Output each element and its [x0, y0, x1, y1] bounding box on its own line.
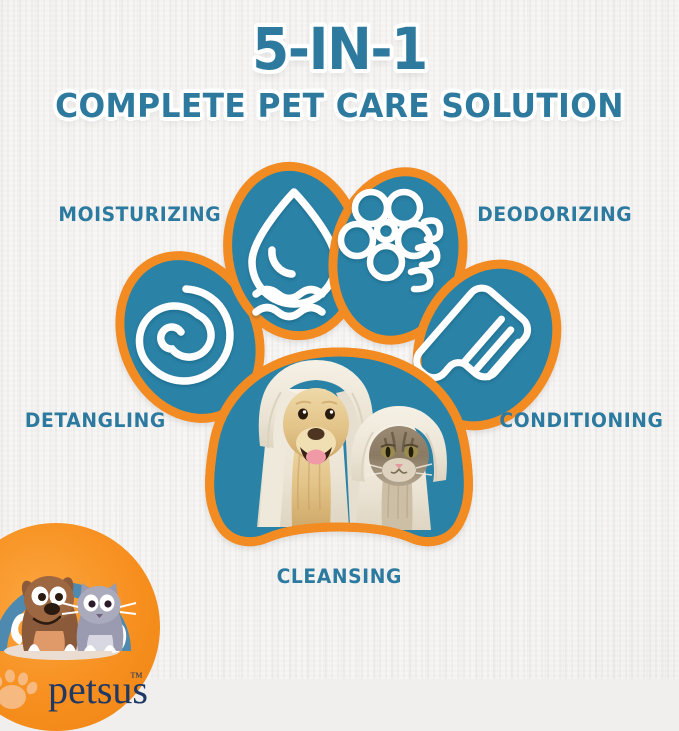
feature-label-deodorizing: DEODORIZING	[477, 203, 632, 226]
page-subtitle: COMPLETE PET CARE SOLUTION	[17, 89, 662, 122]
paw-pad-cleansing[interactable]	[210, 352, 469, 542]
feature-label-detangling: DETANGLING	[25, 409, 166, 432]
feature-label-conditioning: CONDITIONING	[499, 409, 663, 432]
feature-label-cleansing: CLEANSING	[277, 565, 402, 588]
page-title: 5-IN-1	[27, 20, 652, 78]
brand-logo[interactable]: petsus ™	[0, 523, 160, 731]
logo-trademark: ™	[130, 669, 143, 684]
feature-label-moisturizing: MOISTURIZING	[58, 203, 221, 226]
header-block: 5-IN-1 COMPLETE PET CARE SOLUTION	[0, 0, 679, 122]
